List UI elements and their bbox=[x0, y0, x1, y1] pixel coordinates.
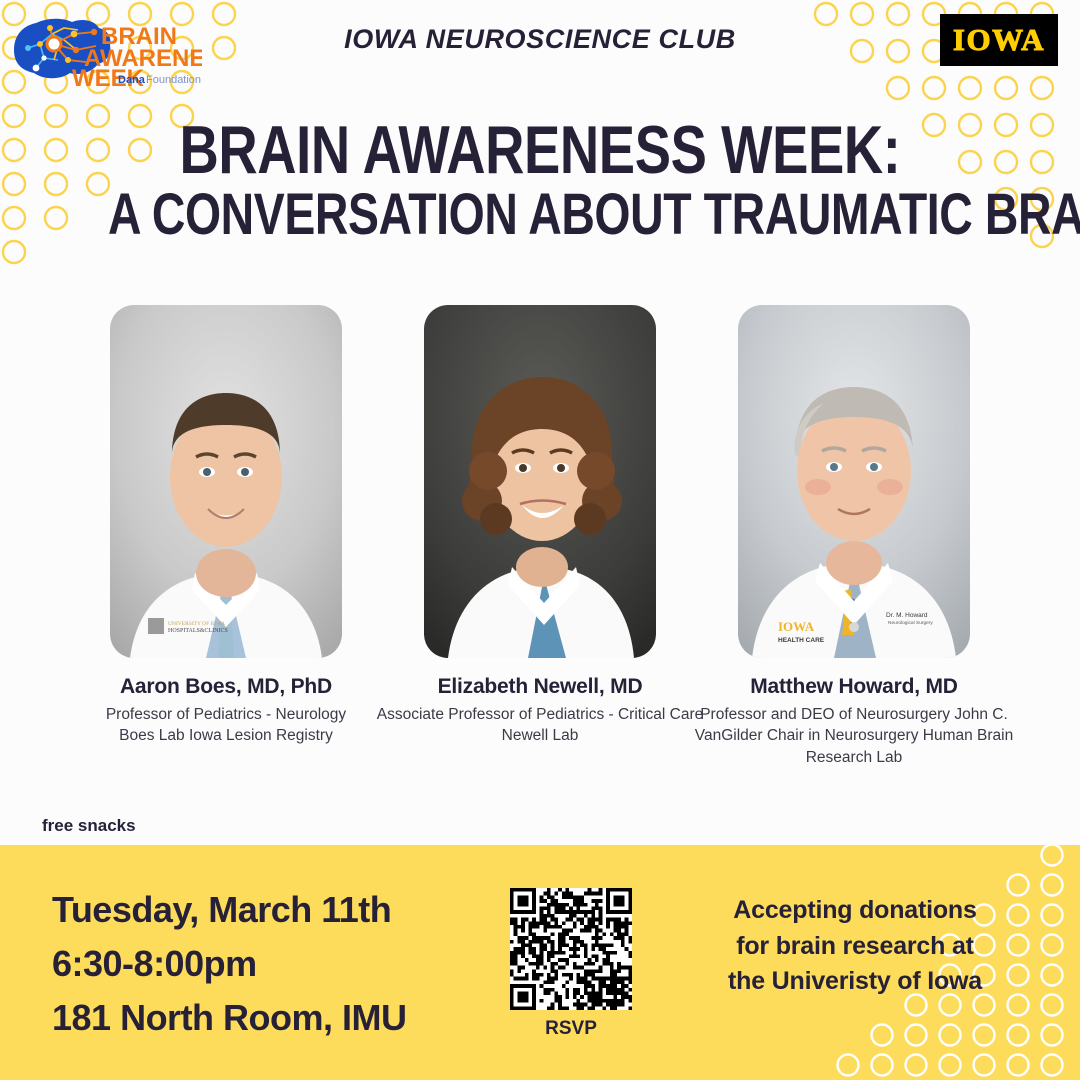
speaker-card: Elizabeth Newell, MD Associate Professor… bbox=[414, 305, 666, 768]
iowa-wordmark-text: IOWA bbox=[953, 22, 1045, 58]
speaker-affiliation: Associate Professor of Pediatrics - Crit… bbox=[370, 704, 710, 747]
speaker-name: Aaron Boes, MD, PhD bbox=[100, 675, 352, 699]
svg-text:Dana: Dana bbox=[118, 74, 146, 86]
photo-badge-hospital-logo: UNIVERSITY OF IOWA HOSPITALS&CLINICS bbox=[148, 618, 228, 634]
speaker-photo: UNIVERSITY OF IOWA HOSPITALS&CLINICS bbox=[110, 305, 342, 658]
svg-text:UNIVERSITY OF IOWA: UNIVERSITY OF IOWA bbox=[168, 621, 225, 627]
speaker-photo bbox=[424, 305, 656, 658]
speaker-list: UNIVERSITY OF IOWA HOSPITALS&CLINICS Aar… bbox=[0, 305, 1080, 768]
svg-text:IOWA: IOWA bbox=[778, 619, 815, 634]
speaker-card: IOWA HEALTH CARE Dr. M. Howard Neurologi… bbox=[728, 305, 980, 768]
speaker-name: Matthew Howard, MD bbox=[728, 675, 980, 699]
speaker-photo: IOWA HEALTH CARE Dr. M. Howard Neurologi… bbox=[738, 305, 970, 658]
svg-text:Foundation: Foundation bbox=[146, 74, 201, 86]
footer-band: Tuesday, March 11th 6:30-8:00pm 181 Nort… bbox=[0, 845, 1080, 1080]
svg-text:HOSPITALS&CLINICS: HOSPITALS&CLINICS bbox=[168, 628, 228, 634]
poster-canvas: BRAIN AWARENESS WEEK Dana Foundation IOW… bbox=[0, 0, 1080, 1080]
rsvp-label: RSVP bbox=[510, 1018, 632, 1040]
iowa-wordmark-logo: IOWA bbox=[940, 14, 1058, 66]
dana-foundation-lockup: Dana Foundation bbox=[118, 74, 201, 86]
speaker-affiliation: Professor of Pediatrics - Neurology Boes… bbox=[100, 704, 352, 747]
event-when-where: Tuesday, March 11th 6:30-8:00pm 181 Nort… bbox=[52, 883, 407, 1045]
svg-text:Dr. M. Howard: Dr. M. Howard bbox=[886, 612, 928, 619]
speaker-affiliation: Professor and DEO of Neurosurgery John C… bbox=[684, 704, 1024, 768]
speaker-card: UNIVERSITY OF IOWA HOSPITALS&CLINICS Aar… bbox=[100, 305, 352, 768]
qr-code[interactable] bbox=[510, 888, 632, 1010]
poster-title: BRAIN AWARENESS WEEK: A CONVERSATION ABO… bbox=[0, 118, 1080, 243]
rsvp-qr-block[interactable]: RSVP bbox=[510, 888, 632, 1040]
title-line-2: A CONVERSATION ABOUT TRAUMATIC BRAIN INJ… bbox=[108, 187, 972, 243]
svg-text:Neurological Surgery: Neurological Surgery bbox=[888, 620, 933, 626]
speaker-name: Elizabeth Newell, MD bbox=[414, 675, 666, 699]
svg-text:HEALTH CARE: HEALTH CARE bbox=[778, 637, 825, 644]
club-name-heading: IOWA NEUROSCIENCE CLUB bbox=[0, 24, 1080, 55]
free-snacks-note: free snacks bbox=[42, 816, 136, 836]
donation-message: Accepting donations for brain research a… bbox=[690, 893, 1020, 1000]
title-line-1: BRAIN AWARENESS WEEK: bbox=[108, 118, 972, 183]
